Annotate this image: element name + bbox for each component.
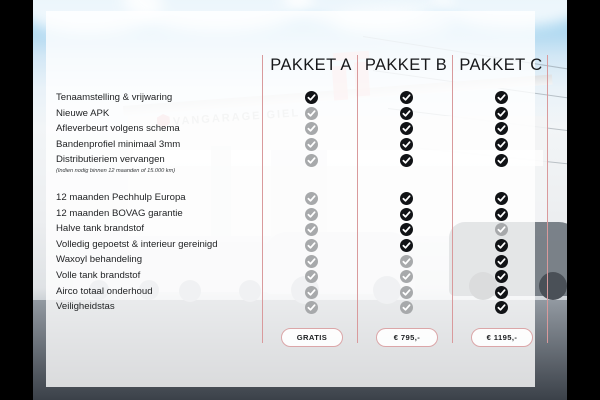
check-included-icon xyxy=(495,286,508,299)
check-cell xyxy=(386,285,426,301)
check-excluded-icon xyxy=(495,223,508,236)
column-divider-3 xyxy=(452,55,453,343)
feature-label: Airco totaal onderhoud xyxy=(56,284,286,300)
footnote-spacer xyxy=(291,168,331,177)
check-included-icon xyxy=(400,208,413,221)
check-cell xyxy=(291,222,331,238)
check-included-icon xyxy=(495,138,508,151)
group-spacer xyxy=(56,176,286,190)
check-included-icon xyxy=(495,239,508,252)
check-cell xyxy=(291,207,331,223)
column-divider-2 xyxy=(357,55,358,343)
check-included-icon xyxy=(495,270,508,283)
check-cell xyxy=(386,300,426,316)
check-cell xyxy=(481,90,521,106)
check-excluded-icon xyxy=(305,286,318,299)
check-included-icon xyxy=(305,91,318,104)
check-included-icon xyxy=(495,301,508,314)
feature-label: Volle tank brandstof xyxy=(56,268,286,284)
check-excluded-icon xyxy=(305,107,318,120)
check-cell xyxy=(291,191,331,207)
price-button-pakket-a[interactable]: GRATIS xyxy=(281,328,343,347)
feature-label: 12 maanden Pechhulp Europa xyxy=(56,190,286,206)
check-cell xyxy=(291,121,331,137)
check-column-pakket-a xyxy=(291,90,331,316)
column-header-pakket-a: PAKKET A xyxy=(264,56,358,75)
pricing-table-card: PAKKET A PAKKET B PAKKET C Tenaamstellin… xyxy=(46,11,535,387)
footnote-spacer xyxy=(481,168,521,177)
check-cell xyxy=(291,238,331,254)
package-header-row: PAKKET A PAKKET B PAKKET C xyxy=(46,56,535,84)
check-excluded-icon xyxy=(305,255,318,268)
check-included-icon xyxy=(400,138,413,151)
feature-label: Halve tank brandstof xyxy=(56,221,286,237)
check-excluded-icon xyxy=(305,208,318,221)
check-excluded-icon xyxy=(400,286,413,299)
check-cell xyxy=(481,191,521,207)
check-cell xyxy=(386,106,426,122)
check-cell xyxy=(386,253,426,269)
check-excluded-icon xyxy=(305,192,318,205)
check-cell xyxy=(386,121,426,137)
feature-footnote: (Indien nodig binnen 12 maanden of 15.00… xyxy=(56,167,286,176)
check-cell xyxy=(291,152,331,168)
check-excluded-icon xyxy=(305,122,318,135)
check-excluded-icon xyxy=(305,138,318,151)
price-button-pakket-b[interactable]: € 795,- xyxy=(376,328,438,347)
check-cell xyxy=(481,300,521,316)
feature-label: Waxoyl behandeling xyxy=(56,252,286,268)
check-cell xyxy=(386,137,426,153)
feature-label: Distributieriem vervangen xyxy=(56,152,286,168)
check-cell xyxy=(291,285,331,301)
check-excluded-icon xyxy=(400,270,413,283)
check-excluded-icon xyxy=(400,255,413,268)
check-cell xyxy=(481,285,521,301)
car-wheel xyxy=(539,272,567,300)
group-spacer xyxy=(481,177,521,191)
check-cell xyxy=(291,137,331,153)
check-included-icon xyxy=(495,255,508,268)
check-included-icon xyxy=(400,122,413,135)
check-cell xyxy=(386,191,426,207)
check-included-icon xyxy=(495,107,508,120)
check-excluded-icon xyxy=(400,301,413,314)
check-cell xyxy=(386,207,426,223)
check-included-icon xyxy=(400,107,413,120)
group-spacer xyxy=(386,177,426,191)
feature-label: 12 maanden BOVAG garantie xyxy=(56,206,286,222)
screenshot-stage: VANGARAGE GIEL PAKKET A PAKKET B PAKKET … xyxy=(0,0,600,400)
feature-label: Nieuwe APK xyxy=(56,106,286,122)
check-included-icon xyxy=(400,239,413,252)
check-excluded-icon xyxy=(305,154,318,167)
check-excluded-icon xyxy=(305,301,318,314)
feature-label: Veiligheidstas xyxy=(56,299,286,315)
check-cell xyxy=(291,269,331,285)
check-included-icon xyxy=(400,223,413,236)
check-cell xyxy=(481,121,521,137)
check-cell xyxy=(481,253,521,269)
check-included-icon xyxy=(400,91,413,104)
check-cell xyxy=(481,106,521,122)
check-cell xyxy=(481,222,521,238)
check-cell xyxy=(386,269,426,285)
check-included-icon xyxy=(495,208,508,221)
check-cell xyxy=(291,90,331,106)
check-excluded-icon xyxy=(305,239,318,252)
check-cell xyxy=(291,300,331,316)
check-cell xyxy=(386,152,426,168)
check-cell xyxy=(481,137,521,153)
group-spacer xyxy=(291,177,331,191)
feature-label: Afleverbeurt volgens schema xyxy=(56,121,286,137)
check-included-icon xyxy=(495,122,508,135)
column-header-pakket-b: PAKKET B xyxy=(359,56,453,75)
check-excluded-icon xyxy=(305,270,318,283)
check-cell xyxy=(386,222,426,238)
footnote-spacer xyxy=(386,168,426,177)
check-excluded-icon xyxy=(305,223,318,236)
check-included-icon xyxy=(495,91,508,104)
feature-label: Bandenprofiel minimaal 3mm xyxy=(56,137,286,153)
feature-label-list: Tenaamstelling & vrijwaring Nieuwe APK A… xyxy=(56,90,286,315)
check-cell xyxy=(386,90,426,106)
check-cell xyxy=(481,238,521,254)
check-included-icon xyxy=(495,154,508,167)
check-column-pakket-c xyxy=(481,90,521,316)
check-cell xyxy=(481,152,521,168)
feature-label: Volledig gepoetst & interieur gereinigd xyxy=(56,237,286,253)
check-cell xyxy=(291,106,331,122)
price-button-pakket-c[interactable]: € 1195,- xyxy=(471,328,533,347)
check-cell xyxy=(386,238,426,254)
check-cell xyxy=(291,253,331,269)
check-cell xyxy=(481,269,521,285)
check-included-icon xyxy=(495,192,508,205)
column-header-pakket-c: PAKKET C xyxy=(454,56,548,75)
check-included-icon xyxy=(400,154,413,167)
check-included-icon xyxy=(400,192,413,205)
check-column-pakket-b xyxy=(386,90,426,316)
check-cell xyxy=(481,207,521,223)
feature-label: Tenaamstelling & vrijwaring xyxy=(56,90,286,106)
column-divider-4 xyxy=(547,55,548,343)
